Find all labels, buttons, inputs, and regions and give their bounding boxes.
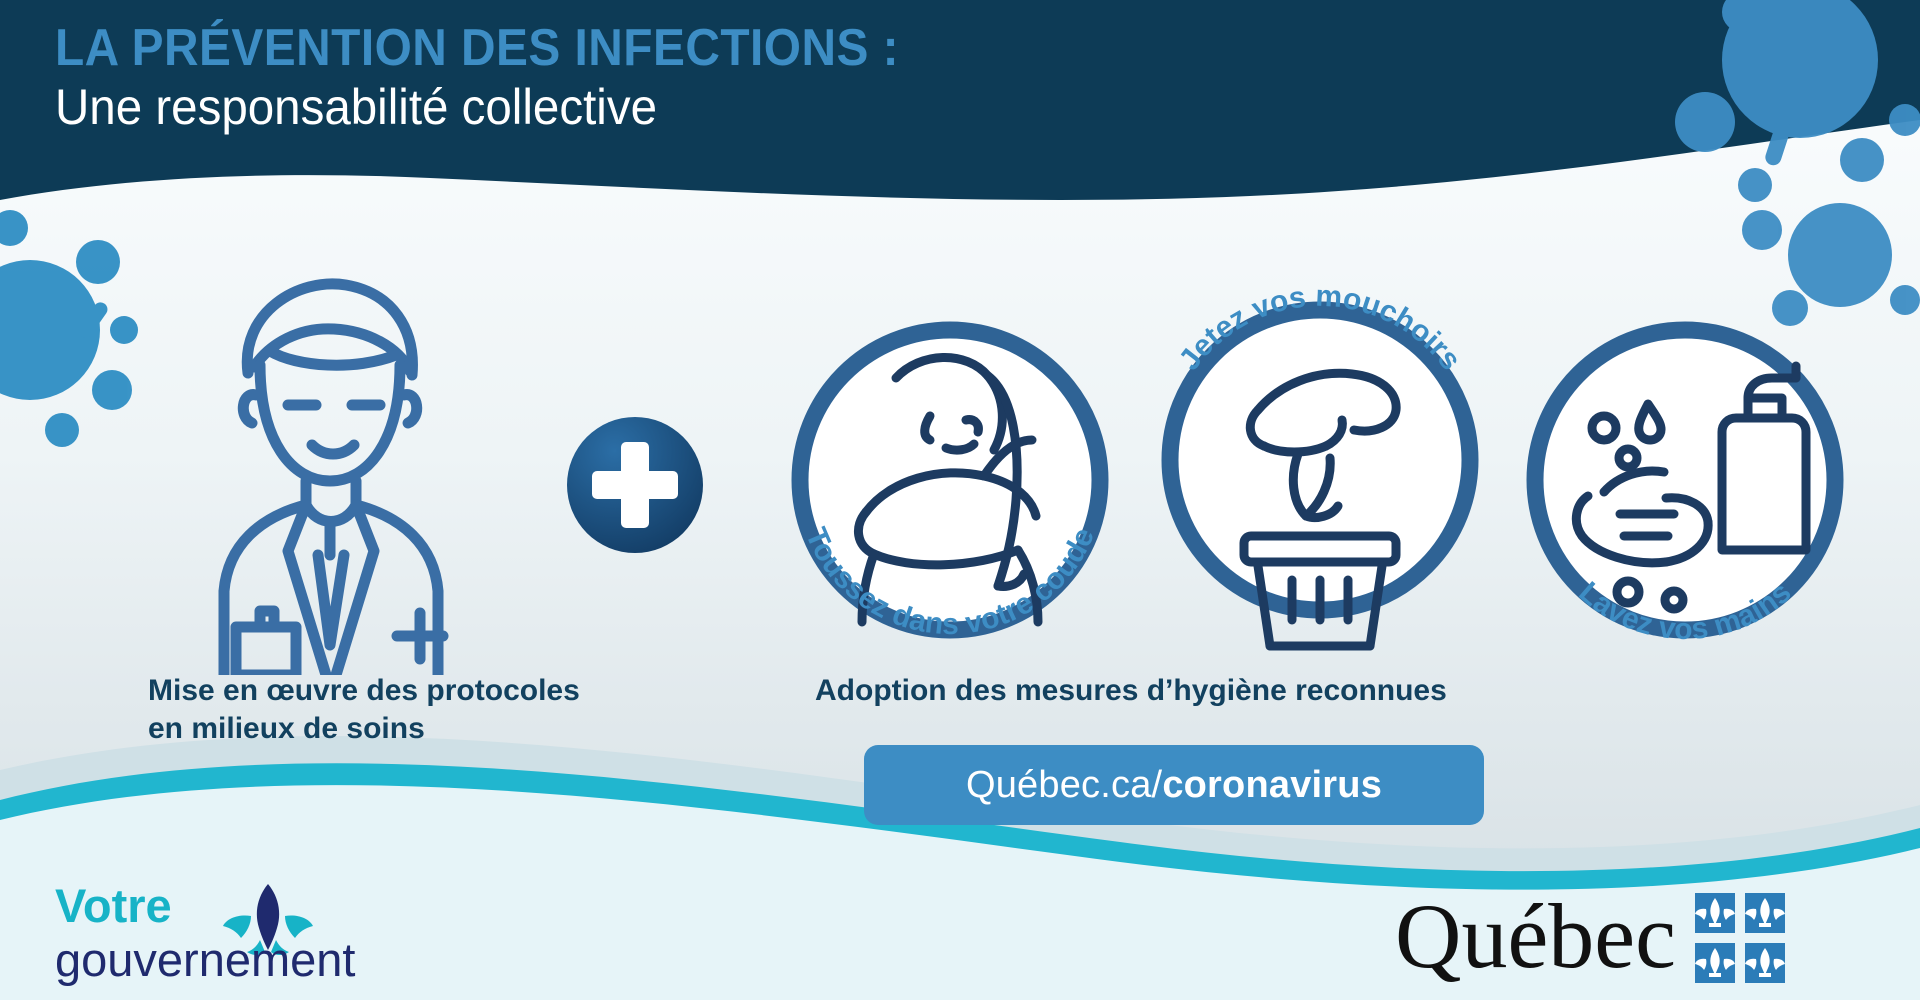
cough-into-elbow-icon: Toussez dans votre coude — [770, 300, 1130, 670]
votre-logo-line2: gouvernement — [55, 933, 355, 986]
throw-tissue-icon: Jetez vos mouchoirs — [1140, 258, 1500, 658]
header-text-block: LA PRÉVENTION DES INFECTIONS : Une respo… — [55, 22, 972, 134]
infographic-poster: LA PRÉVENTION DES INFECTIONS : Une respo… — [0, 0, 1920, 1000]
wash-hands-icon: Lavez vos mains — [1500, 300, 1870, 670]
votre-gouvernement-logo: Votre gouvernement — [55, 880, 475, 990]
page-subtitle: Une responsabilité collective — [55, 81, 926, 134]
plus-icon — [565, 415, 705, 555]
healthcare-worker-illustration — [120, 255, 540, 675]
quebec-wordmark: Québec — [1395, 885, 1676, 987]
url-bold: coronavirus — [1162, 764, 1382, 807]
page-title: LA PRÉVENTION DES INFECTIONS : — [55, 22, 899, 75]
votre-logo-line1: Votre — [55, 880, 172, 932]
caption-left-line1: Mise en œuvre des protocoles — [148, 672, 708, 710]
caption-left: Mise en œuvre des protocoles en milieux … — [148, 672, 708, 749]
caption-left-line2: en milieux de soins — [148, 710, 708, 748]
quebec-government-logo: Québec — [1395, 885, 1875, 995]
url-prefix: Québec.ca/ — [966, 764, 1162, 807]
caption-right: Adoption des mesures d’hygiène reconnues — [815, 672, 1655, 710]
quebec-flag-blocks — [1695, 893, 1785, 983]
quebec-coronavirus-link-button[interactable]: Québec.ca/coronavirus — [864, 745, 1484, 825]
